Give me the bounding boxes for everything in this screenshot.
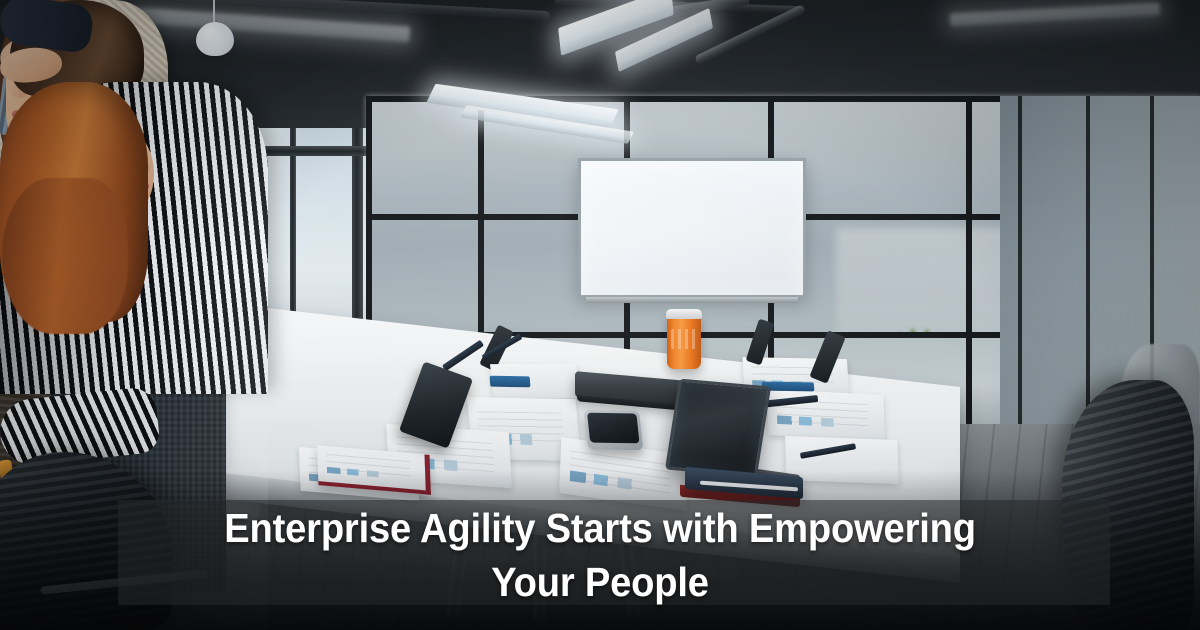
- title-line-1: Enterprise Agility Starts with Empowerin…: [224, 501, 976, 555]
- whiteboard: [578, 158, 806, 298]
- chart-paper: [767, 389, 885, 441]
- partition-frame: [966, 96, 972, 426]
- open-laptop: [665, 379, 771, 478]
- can-label: [671, 329, 697, 349]
- smartphone-on-table: [584, 410, 644, 451]
- can-lid: [666, 309, 702, 319]
- title-line-2: Your People: [491, 555, 709, 609]
- hair: [0, 82, 148, 322]
- banner-title: Enterprise Agility Starts with Empowerin…: [0, 496, 1200, 614]
- phone-screen: [587, 413, 639, 444]
- glazing-frame: [1018, 96, 1022, 448]
- hero-banner: Enterprise Agility Starts with Empowerin…: [0, 0, 1200, 630]
- whiteboard-tray: [586, 297, 798, 303]
- glazing-frame: [1086, 96, 1090, 448]
- blue-document-tab: [490, 376, 531, 388]
- orange-can: [667, 313, 701, 369]
